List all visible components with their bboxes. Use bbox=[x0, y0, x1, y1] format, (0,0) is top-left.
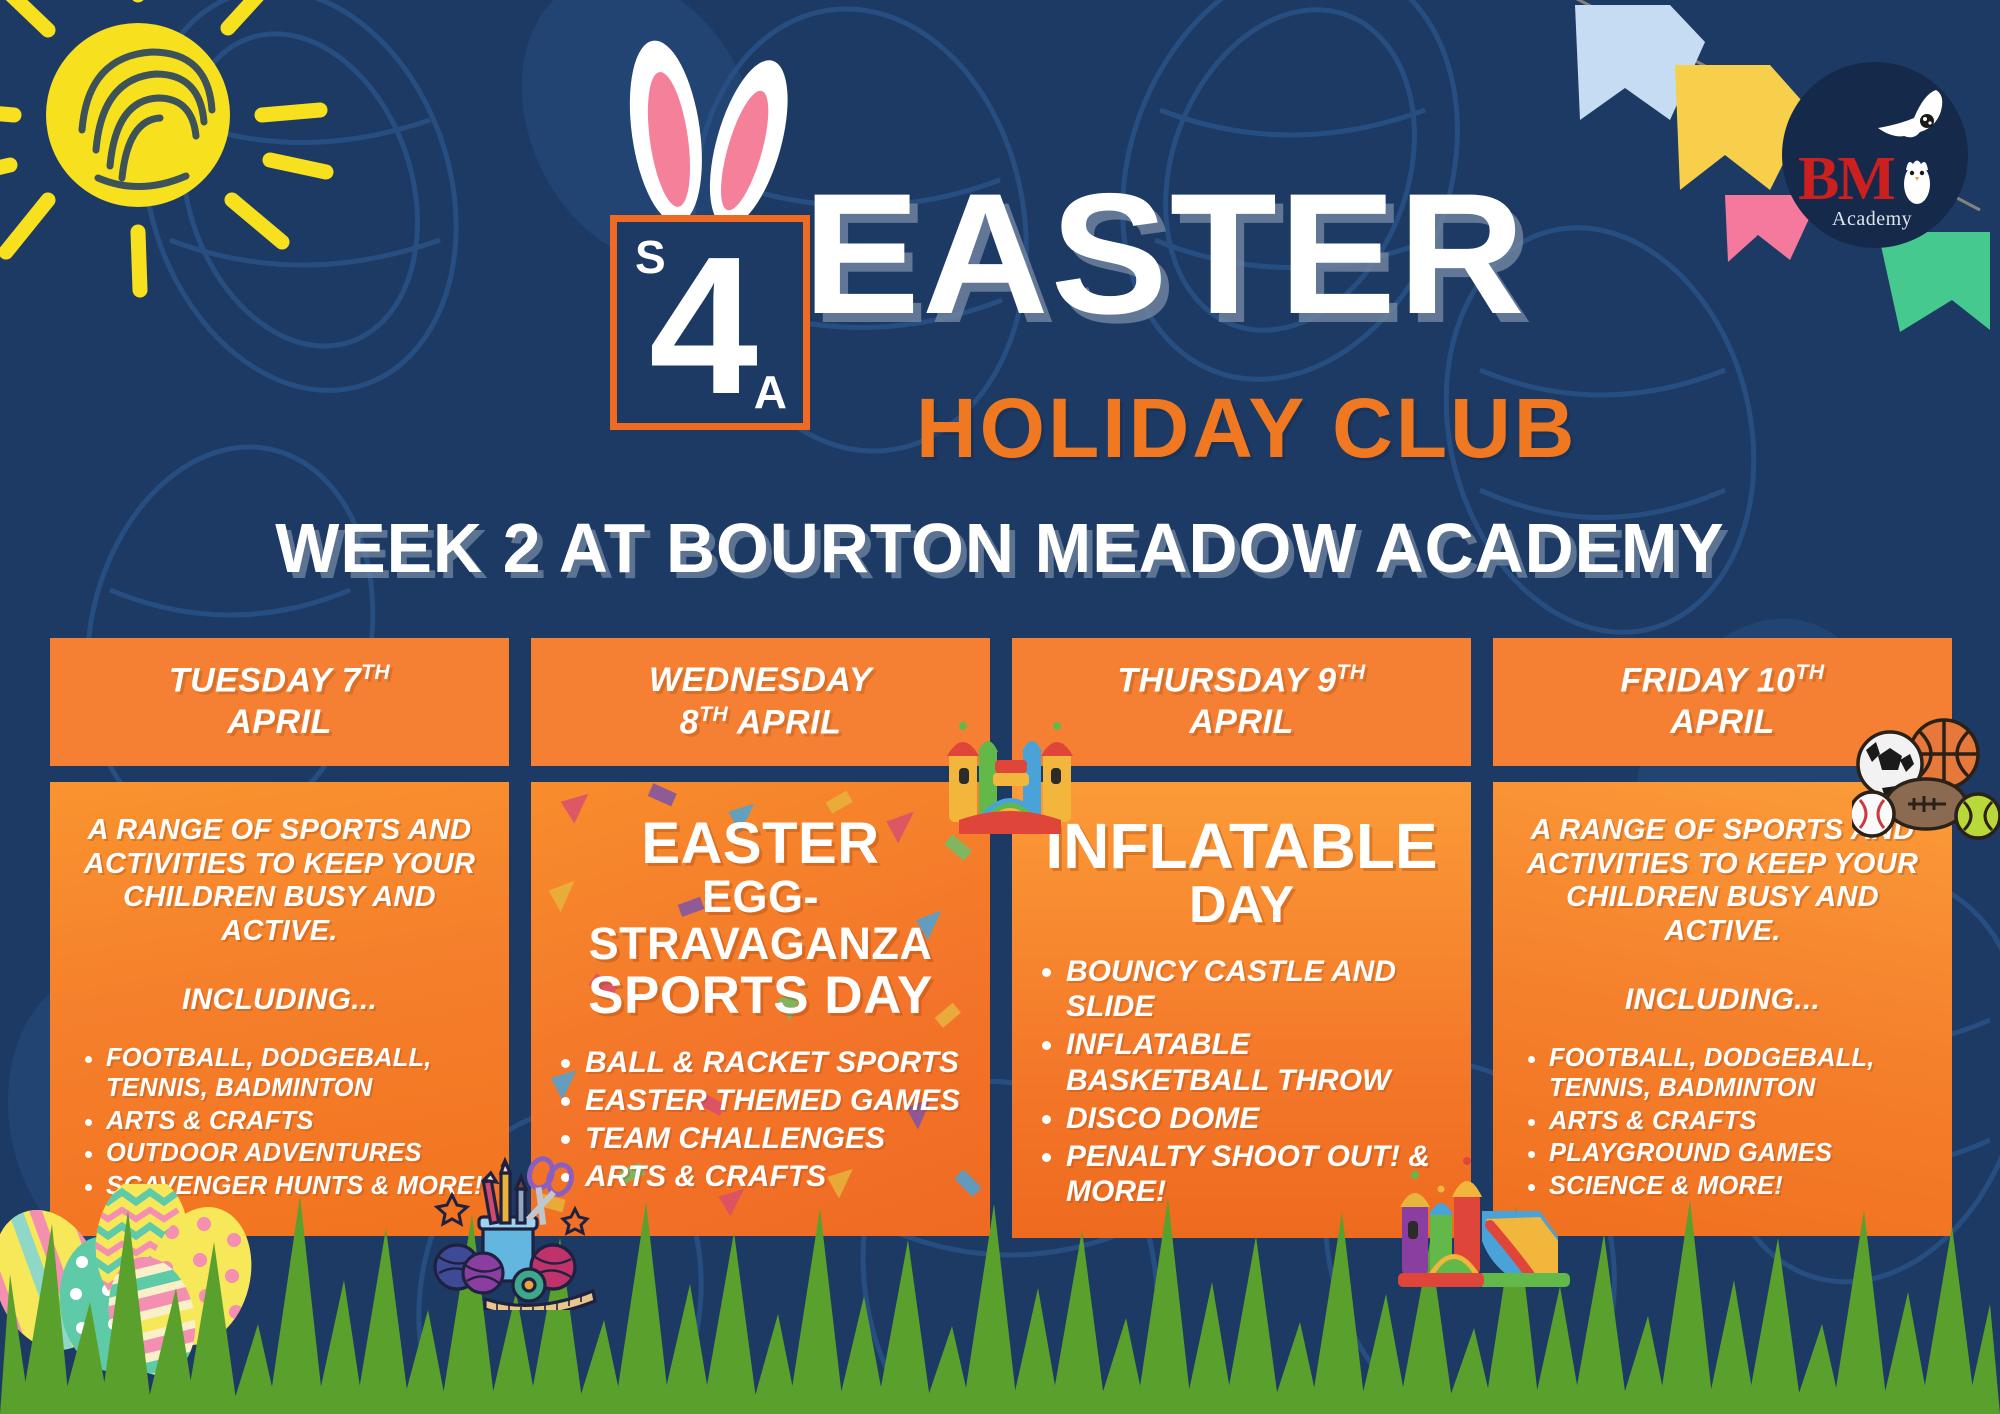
day-title-line1: INFLATABLE bbox=[1034, 814, 1449, 879]
logo-letter-a: A bbox=[754, 365, 787, 419]
list-item: TEAM CHALLENGES bbox=[585, 1121, 968, 1156]
day-label: THURSDAY 9 bbox=[1117, 662, 1336, 700]
day-month: APRIL bbox=[227, 703, 332, 741]
s4a-logo: S 4 A bbox=[595, 40, 825, 380]
grass-icon bbox=[0, 1184, 2000, 1414]
day-title-line3: SPORTS DAY bbox=[553, 968, 968, 1023]
list-item: ARTS & CRAFTS bbox=[106, 1106, 487, 1137]
day-label: WEDNESDAY bbox=[649, 661, 872, 699]
day-month: APRIL bbox=[1189, 703, 1294, 741]
page-title: EASTER bbox=[803, 168, 1527, 340]
poster-root: BM Academy S 4 A EASTER HOLIDAY CLUB WEE… bbox=[0, 0, 2000, 1414]
list-item: FOOTBALL, DODGEBALL, TENNIS, BADMINTON bbox=[106, 1043, 487, 1104]
bm-academy-logo: BM Academy bbox=[1782, 62, 1968, 248]
s4a-logo-box: S 4 A bbox=[610, 215, 810, 430]
list-item: BALL & RACKET SPORTS bbox=[585, 1045, 968, 1080]
activity-list: BOUNCY CASTLE AND SLIDE INFLATABLE BASKE… bbox=[1034, 954, 1449, 1209]
week-location-line: WEEK 2 AT BOURTON MEADOW ACADEMY bbox=[30, 508, 1970, 588]
bm-academy-subtext: Academy bbox=[1832, 208, 1912, 231]
bunny-ears-icon bbox=[595, 40, 825, 240]
including-label: INCLUDING... bbox=[72, 983, 487, 1017]
list-item: BOUNCY CASTLE AND SLIDE bbox=[1066, 954, 1449, 1024]
day-month: APRIL bbox=[737, 703, 842, 741]
day-ordinal: TH bbox=[1796, 661, 1825, 684]
activity-list: BALL & RACKET SPORTS EASTER THEMED GAMES… bbox=[553, 1045, 968, 1194]
craft-supplies-icon bbox=[425, 1145, 615, 1310]
logo-number-4: 4 bbox=[649, 228, 758, 424]
day-title-line2: EGG-STRAVAGANZA bbox=[553, 874, 968, 968]
day-ordinal: TH bbox=[699, 703, 728, 726]
flying-owl-icon bbox=[1874, 88, 1950, 150]
list-item: DISCO DOME bbox=[1066, 1101, 1449, 1136]
day-ordinal: TH bbox=[361, 661, 390, 684]
list-item: INFLATABLE BASKETBALL THROW bbox=[1066, 1027, 1449, 1097]
list-item: FOOTBALL, DODGEBALL, TENNIS, BADMINTON bbox=[1549, 1043, 1930, 1104]
sitting-owl-icon bbox=[1900, 154, 1934, 206]
day-title-line1: EASTER bbox=[553, 814, 968, 874]
list-item: ARTS & CRAFTS bbox=[1549, 1106, 1930, 1137]
including-label: INCLUDING... bbox=[1515, 983, 1930, 1017]
day-number: 8 bbox=[680, 703, 699, 741]
list-item: EASTER THEMED GAMES bbox=[585, 1083, 968, 1118]
bm-letters: BM bbox=[1798, 148, 1894, 210]
day-title-line2: DAY bbox=[1034, 879, 1449, 932]
day-month: APRIL bbox=[1670, 703, 1775, 741]
day-ordinal: TH bbox=[1337, 661, 1366, 684]
day-header-wednesday: WEDNESDAY8TH APRIL bbox=[531, 638, 990, 766]
day-description: A RANGE OF SPORTS AND ACTIVITIES TO KEEP… bbox=[72, 814, 487, 949]
day-title: EASTER EGG-STRAVAGANZA SPORTS DAY bbox=[553, 814, 968, 1023]
bouncy-castle-slide-icon bbox=[1390, 1145, 1575, 1310]
day-label: FRIDAY 10 bbox=[1620, 662, 1795, 700]
sports-balls-icon bbox=[1852, 712, 2000, 840]
page-subtitle: HOLIDAY CLUB bbox=[916, 386, 1577, 470]
day-header-tuesday: TUESDAY 7THAPRIL bbox=[50, 638, 509, 766]
activity-list: FOOTBALL, DODGEBALL, TENNIS, BADMINTON A… bbox=[1515, 1043, 1930, 1202]
day-label: TUESDAY 7 bbox=[169, 662, 361, 700]
bouncy-castle-icon bbox=[935, 712, 1085, 842]
list-item: PLAYGROUND GAMES bbox=[1549, 1138, 1930, 1169]
day-title: INFLATABLE DAY bbox=[1034, 814, 1449, 932]
sun-icon bbox=[0, 0, 350, 300]
